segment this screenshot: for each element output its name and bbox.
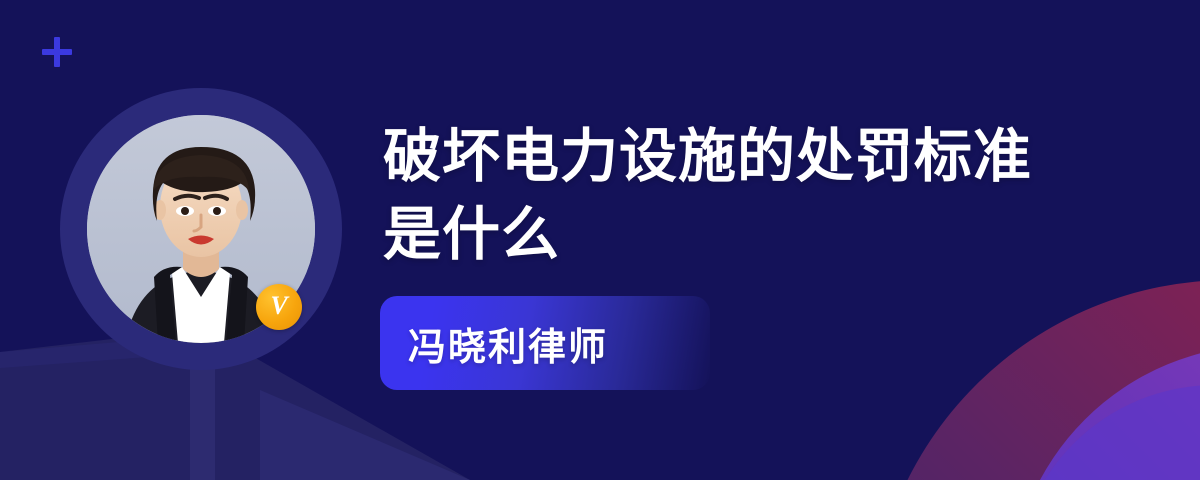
avatar: V [60,88,342,370]
lawyer-name-label: 冯晓利律师 [380,316,608,371]
page-title: 破坏电力设施的处罚标准 是什么 [383,118,1083,274]
page-title-line-2: 是什么 [383,196,1083,274]
lawyer-banner: V 破坏电力设施的处罚标准 是什么 冯晓利律师 [0,0,1200,480]
plus-icon [42,37,72,67]
verified-badge-icon: V [256,284,302,330]
page-title-line-1: 破坏电力设施的处罚标准 [383,118,1083,196]
verified-badge-label: V [270,293,287,319]
lawyer-name-badge[interactable]: 冯晓利律师 [380,296,710,390]
